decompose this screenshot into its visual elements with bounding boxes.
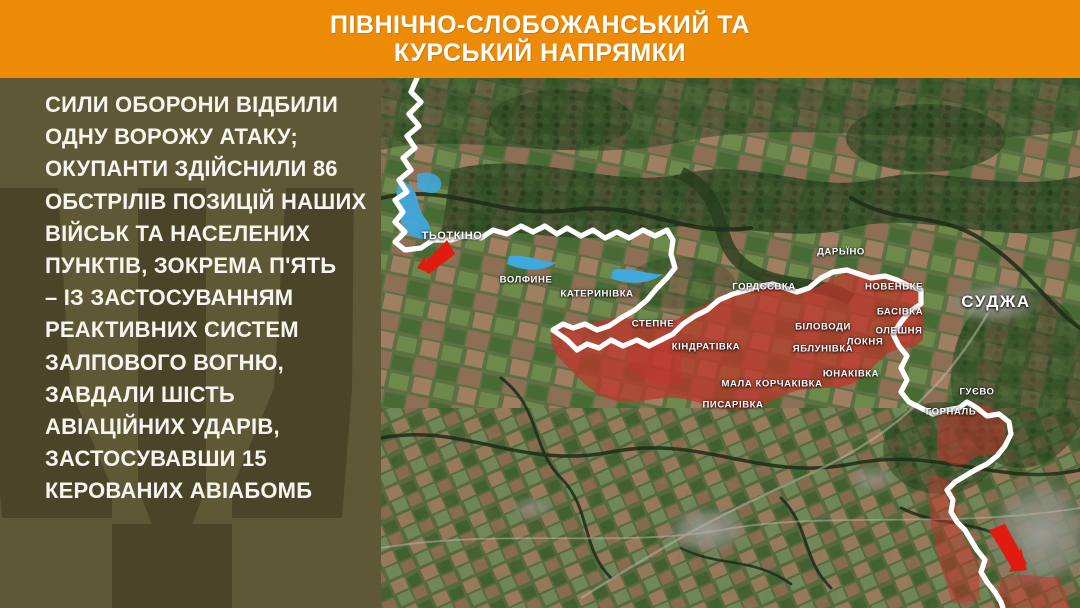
summary-panel: СИЛИ ОБОРОНИ ВІДБИЛИ ОДНУ ВОРОЖУ АТАКУ; … bbox=[0, 78, 381, 608]
page-title-line-2: КУРСЬКИЙ НАПРЯМКИ bbox=[394, 39, 686, 67]
page-title-line-1: ПІВНІЧНО-СЛОБОЖАНСЬКИЙ ТА bbox=[330, 11, 750, 39]
infographic-frame: ПІВНІЧНО-СЛОБОЖАНСЬКИЙ ТА КУРСЬКИЙ НАПРЯ… bbox=[0, 0, 1080, 608]
header-banner: ПІВНІЧНО-СЛОБОЖАНСЬКИЙ ТА КУРСЬКИЙ НАПРЯ… bbox=[0, 0, 1080, 78]
summary-text: СИЛИ ОБОРОНИ ВІДБИЛИ ОДНУ ВОРОЖУ АТАКУ; … bbox=[0, 78, 381, 508]
tactical-map[interactable]: ТЬОТКІНО ВОЛФИНЕ КАТЕРИНІВКА СТЕПНЕ КІНД… bbox=[381, 78, 1080, 608]
satellite-base-imagery bbox=[381, 78, 1080, 608]
